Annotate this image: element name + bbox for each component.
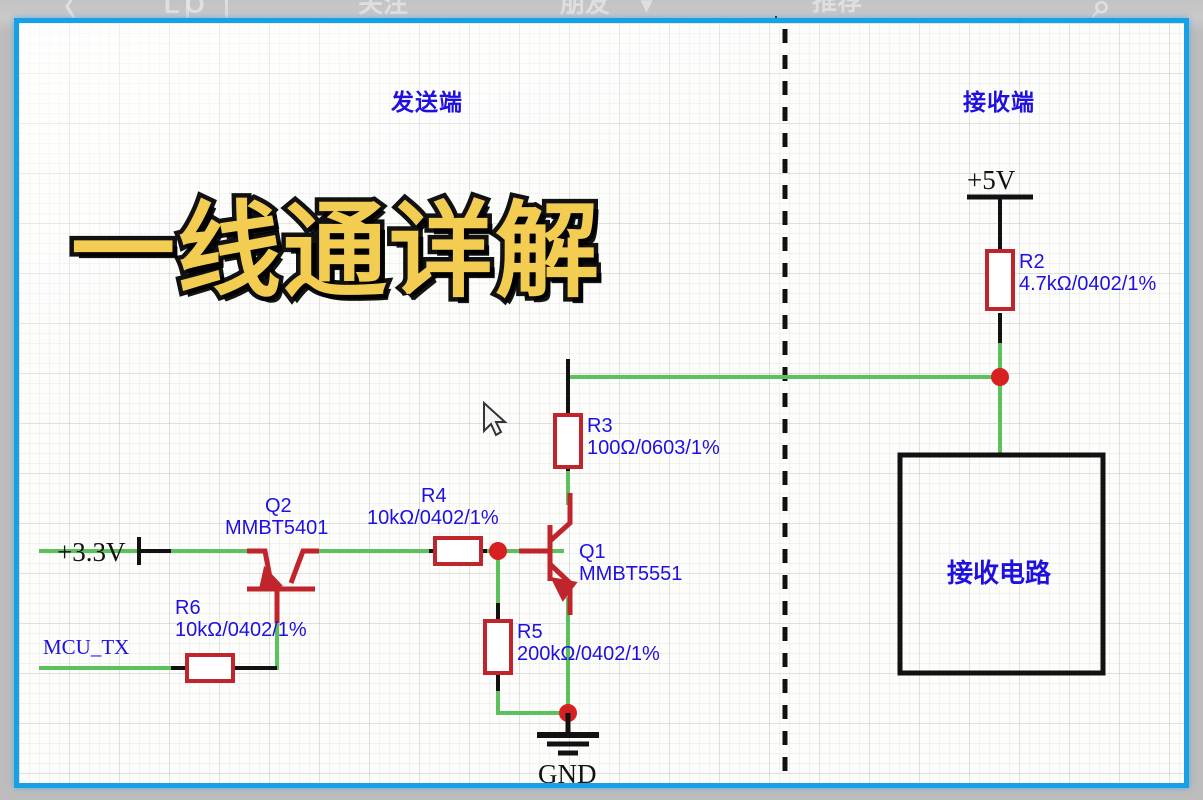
net-label-gnd: GND (538, 759, 597, 788)
circuit-diagram (19, 23, 1184, 783)
net-label-3v3: +3.3V (57, 537, 125, 568)
schematic-viewer-frame: 发送端 接收端 一线通详解 +3.3V +5V MCU_TX GND R2 4.… (14, 18, 1189, 788)
junction-rx-node (991, 368, 1009, 386)
chevron-down-icon[interactable]: ▾ (641, 0, 652, 16)
tab-tuijian[interactable]: 推荐 (812, 0, 862, 15)
resistor-R2 (987, 251, 1013, 309)
component-ref-Q2: Q2 (265, 495, 292, 517)
resistor-R6 (187, 655, 233, 681)
junction-base-node (489, 542, 507, 560)
component-ref-R3: R3 (587, 415, 613, 437)
component-ref-R4: R4 (421, 485, 447, 507)
component-value-Q2: MMBT5401 (225, 517, 328, 539)
net-label-5v: +5V (967, 165, 1015, 196)
component-ref-Q1: Q1 (579, 541, 606, 563)
net-label-mcu-tx: MCU_TX (43, 635, 129, 660)
resistor-R4 (435, 538, 481, 564)
component-value-R3: 100Ω/0603/1% (587, 437, 720, 459)
resistor-R3 (555, 415, 581, 467)
component-value-R4: 10kΩ/0402/1% (367, 507, 499, 529)
component-value-R6: 10kΩ/0402/1% (175, 619, 307, 641)
resistor-bodies (187, 251, 1013, 681)
component-value-Q1: MMBT5551 (579, 563, 682, 585)
component-value-R2: 4.7kΩ/0402/1% (1019, 273, 1156, 295)
resistor-R5 (485, 621, 511, 673)
component-ref-R6: R6 (175, 597, 201, 619)
gnd-symbol (537, 713, 599, 753)
component-ref-R5: R5 (517, 621, 543, 643)
component-value-R5: 200kΩ/0402/1% (517, 643, 660, 665)
transistor-Q2 (247, 551, 319, 623)
mouse-cursor (482, 401, 512, 441)
tab-pengyou[interactable]: 朋友 (560, 0, 610, 17)
section-title-receiver: 接收端 (963, 83, 1035, 117)
screenshot-root: 〈 LO 关注 朋友 ▾ 推荐 ⌕ (0, 0, 1203, 800)
receiver-circuit-label: 接收电路 (947, 553, 1051, 590)
section-title-transmitter: 发送端 (391, 83, 463, 117)
component-ref-R2: R2 (1019, 251, 1045, 273)
tab-guanzhu[interactable]: 关注 (358, 0, 408, 17)
page-title: 一线通详解 (71, 199, 601, 303)
